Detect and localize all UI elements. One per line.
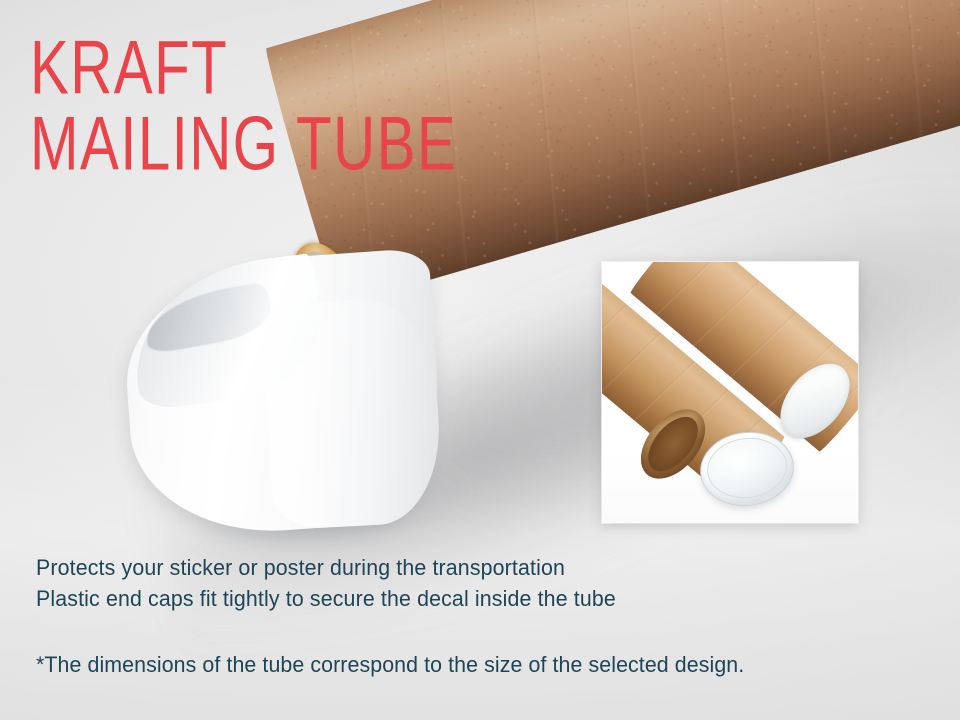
headline-line-1: KRAFT [30, 30, 457, 107]
poster-curl [124, 253, 329, 411]
tube-open-mouth [273, 241, 420, 503]
kraft-mailing-tube-poster: KRAFT MAILING TUBE Protects your sticker… [0, 0, 960, 720]
benefit-line-1: Protects your sticker or poster during t… [36, 552, 616, 583]
headline-line-2: MAILING TUBE [30, 106, 457, 183]
poster-fold-panel [262, 296, 444, 531]
footnote-text: *The dimensions of the tube correspond t… [36, 650, 744, 680]
tube-golden-rim [263, 230, 430, 514]
benefits-copy: Protects your sticker or poster during t… [36, 552, 634, 614]
benefit-line-2: Plastic end caps fit tightly to secure t… [36, 583, 616, 614]
white-poster-sheet [119, 248, 447, 541]
page-title: KRAFT MAILING TUBE [30, 30, 484, 169]
product-detail-photo [602, 262, 858, 523]
poster-underside-shade [140, 281, 275, 354]
